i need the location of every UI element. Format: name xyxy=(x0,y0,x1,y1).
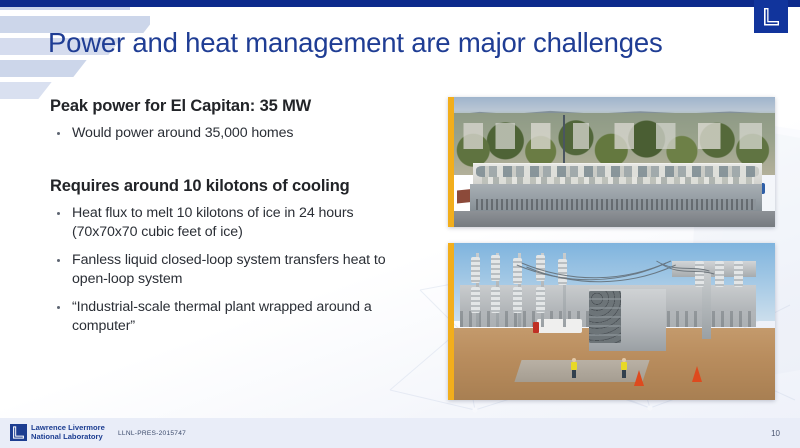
top-accent-bar-shade xyxy=(0,7,130,10)
list-item-text: “Industrial-scale thermal plant wrapped … xyxy=(72,299,372,335)
slide-title: Power and heat management are major chal… xyxy=(48,26,748,60)
worker-figure xyxy=(571,358,577,378)
slide: Power and heat management are major chal… xyxy=(0,0,800,448)
list-item: “Industrial-scale thermal plant wrapped … xyxy=(50,298,422,337)
bullet-list-2: Heat flux to melt 10 kilotons of ice in … xyxy=(50,204,422,337)
llnl-logo-badge xyxy=(754,0,788,33)
electrical-substation-photo xyxy=(448,243,775,400)
footer-org-line-2: National Laboratory xyxy=(31,433,105,442)
list-item-text: Heat flux to melt 10 kilotons of ice in … xyxy=(72,205,353,241)
list-item: Would power around 35,000 homes xyxy=(50,124,422,144)
section-heading-1: Peak power for El Capitan: 35 MW xyxy=(50,96,422,117)
llnl-l-mark-icon xyxy=(10,424,27,441)
list-item-text: Would power around 35,000 homes xyxy=(72,125,293,141)
bullet-dot-icon xyxy=(57,259,60,262)
section-heading-2: Requires around 10 kilotons of cooling xyxy=(50,176,422,197)
bullet-dot-icon xyxy=(57,212,60,215)
llnl-l-mark-icon xyxy=(760,6,782,28)
worker-figure xyxy=(621,358,627,378)
slide-footer: Lawrence Livermore National Laboratory L… xyxy=(0,418,800,448)
cooling-plant-aerial-photo xyxy=(448,97,775,227)
list-item-text: Fanless liquid closed-loop system transf… xyxy=(72,252,385,288)
bullet-dot-icon xyxy=(57,132,60,135)
llnl-footer-logo: Lawrence Livermore National Laboratory xyxy=(10,424,105,441)
bullet-list-1: Would power around 35,000 homes xyxy=(50,124,422,144)
top-accent-bar xyxy=(0,0,800,7)
content-column: Peak power for El Capitan: 35 MW Would p… xyxy=(50,96,422,345)
list-item: Heat flux to melt 10 kilotons of ice in … xyxy=(50,204,422,243)
photo-accent-bar xyxy=(448,97,454,227)
photo-accent-bar xyxy=(448,243,454,400)
bullet-dot-icon xyxy=(57,306,60,309)
page-number: 10 xyxy=(771,429,780,438)
list-item: Fanless liquid closed-loop system transf… xyxy=(50,251,422,290)
document-number: LLNL-PRES-2015747 xyxy=(118,430,186,437)
